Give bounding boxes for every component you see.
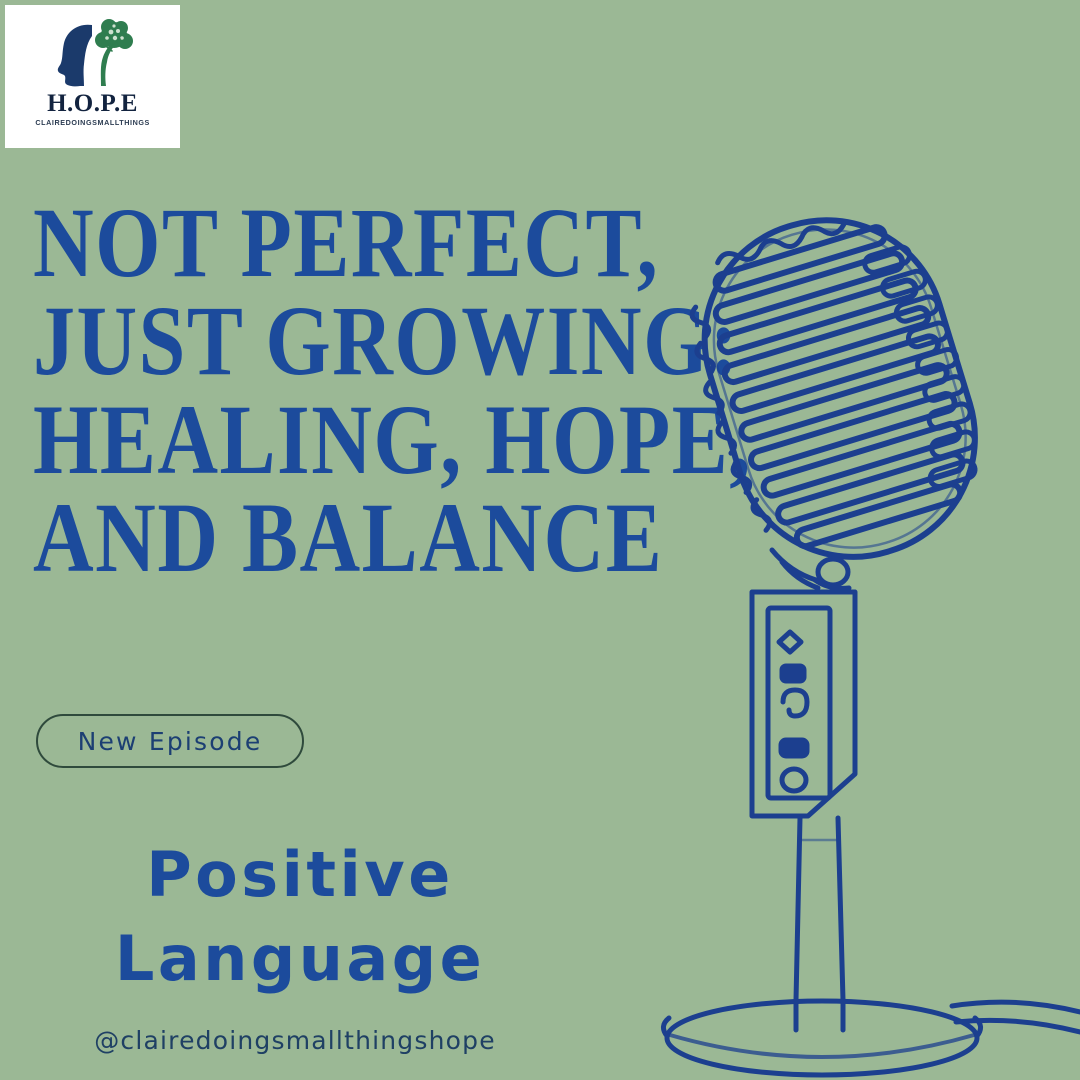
- mic-round-base: [663, 1001, 980, 1075]
- mic-grille-bars: [695, 220, 983, 555]
- podcast-cover-poster: H.O.P.E CLAIREDOINGSMALLTHINGS NOT PERFE…: [0, 0, 1080, 1080]
- new-episode-badge-label: New Episode: [78, 727, 263, 756]
- subject-line-1: Positive: [0, 833, 600, 917]
- logo-tagline: CLAIREDOINGSMALLTHINGS: [35, 119, 150, 127]
- brand-logo-card: H.O.P.E CLAIREDOINGSMALLTHINGS: [5, 5, 180, 148]
- new-episode-badge[interactable]: New Episode: [36, 714, 304, 768]
- subject-line-2: Language: [0, 917, 600, 1001]
- logo-wordmark: H.O.P.E: [47, 91, 138, 116]
- vintage-microphone-illustration: [600, 200, 1080, 1080]
- episode-subject-block: Positive Language: [0, 833, 600, 1000]
- mic-stand-post: [796, 818, 843, 1030]
- social-handle[interactable]: @clairedoingsmallthingshope: [0, 1026, 590, 1055]
- mic-panel-buttons: [779, 632, 807, 791]
- head-with-tree-icon: [51, 19, 135, 89]
